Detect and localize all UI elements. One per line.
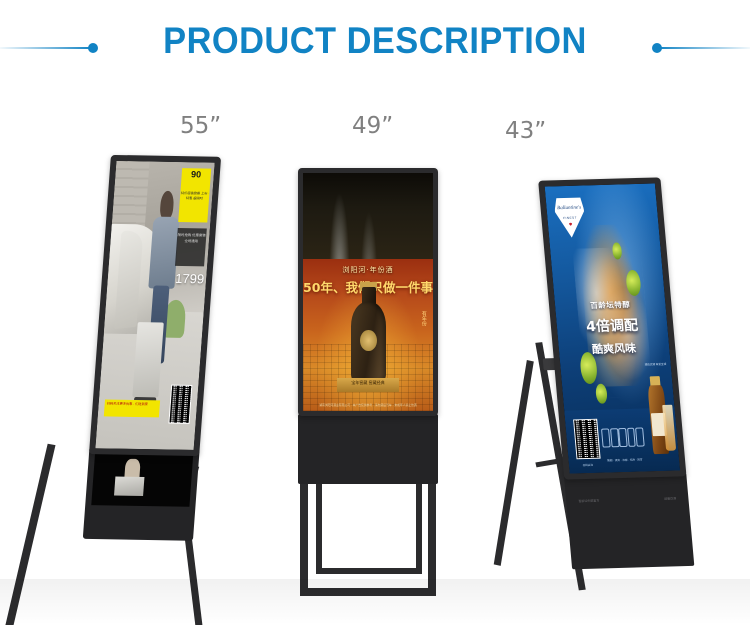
kiosk-49-bezel: 浏阳河·年份酒 50年、我们只做一件事 有年份 宝年窖藏 窖藏经典 湖南浏阳河酒…	[298, 168, 438, 416]
floor-shadow	[0, 579, 750, 625]
ad-qr-code-icon	[573, 419, 600, 459]
qr-pattern	[169, 385, 191, 423]
kiosk-49-left-leg	[300, 468, 308, 596]
kiosk-49-screen[interactable]: 浏阳河·年份酒 50年、我们只做一件事 有年份 宝年窖藏 窖藏经典 湖南浏阳河酒…	[303, 173, 433, 411]
ad-side-text: 有年份	[421, 311, 428, 326]
ad-line-3: 酷爽风味	[558, 338, 670, 357]
ad-fine-print: 湖南浏阳河酒业有限公司 · 本广告仅供参考 · 请勿酒后驾车 · 未成年人禁止饮…	[313, 403, 422, 407]
ad-qr-code-icon	[168, 384, 193, 424]
kiosk-43-bezel: Ballantine's FINEST 百龄坛特醇 4倍调配 酷爽风味 理性饮酒…	[538, 177, 686, 479]
product-kiosk-55: 90 特价超值套餐 上市·特惠 超限时 限时抢购 优惠套装 全场通用 1799 …	[18, 150, 248, 570]
kiosk-55-screen[interactable]: 90 特价超值套餐 上市·特惠 超限时 限时抢购 优惠套装 全场通用 1799 …	[95, 161, 214, 450]
qr-pattern	[574, 420, 599, 458]
kiosk-49-inner-left-rail	[316, 478, 322, 574]
bezel-right-text: 适量饮酒	[664, 497, 676, 501]
kiosk-55-bezel: 90 特价超值套餐 上市·特惠 超限时 限时抢购 优惠套装 全场通用 1799 …	[89, 155, 221, 456]
page-title: PRODUCT DESCRIPTION	[26, 20, 724, 62]
kiosk-49-inner-right-rail	[416, 478, 422, 574]
ad-retail-car: 90 特价超值套餐 上市·特惠 超限时 限时抢购 优惠套装 全场通用 1799 …	[95, 161, 214, 450]
ad-line-2: 4倍调配	[556, 314, 668, 337]
kiosk-55-lower-body	[83, 449, 200, 541]
bezel-left-text: 百龄坛中国官方	[578, 499, 599, 504]
product-kiosk-49: 浏阳河·年份酒 50年、我们只做一件事 有年份 宝年窖藏 窖藏经典 湖南浏阳河酒…	[286, 168, 451, 580]
ad-qr-label: 扫码关注	[577, 463, 599, 468]
logo-wordmark: Ballantine's	[554, 206, 584, 212]
ad-price: 1799	[170, 271, 204, 287]
kiosk-43-bezel-text-row: 百龄坛中国官方 适量饮酒	[578, 497, 676, 504]
size-label-43: 43”	[505, 118, 546, 144]
ad-whisky: Ballantine's FINEST 百龄坛特醇 4倍调配 酷爽风味 理性饮酒…	[545, 183, 680, 473]
lower-scene-cart	[114, 476, 145, 495]
flavour-icon-5	[635, 427, 645, 447]
ad-pedestal-text: 宝年窖藏 窖藏经典	[337, 380, 399, 386]
kiosk-49-right-leg	[428, 468, 436, 596]
logo-diamond-icon	[569, 222, 573, 226]
page-header: PRODUCT DESCRIPTION	[0, 0, 750, 90]
ad-side-text: 理性饮酒 享受生活	[645, 363, 667, 367]
size-label-55: 55”	[180, 113, 221, 139]
ad-pedestal: 宝年窖藏 窖藏经典	[337, 378, 399, 392]
ad-baijiu: 浏阳河·年份酒 50年、我们只做一件事 有年份 宝年窖藏 窖藏经典 湖南浏阳河酒…	[303, 173, 433, 411]
ad-dark-box-text: 限时抢购 优惠套装 全场通用	[176, 233, 206, 244]
ad-badge-number: 90	[181, 170, 211, 179]
ad-promo-badge: 90 特价超值套餐 上市·特惠 超限时	[178, 168, 211, 223]
header-rule-right	[658, 47, 750, 49]
kiosk-49-inner-bottom-rail	[316, 568, 422, 574]
ad-brand-line: 浏阳河·年份酒	[303, 265, 433, 275]
ad-strip-text: 扫码关注更多优惠 · 们送到家	[107, 402, 158, 407]
kiosk-43-lower-body: 百龄坛中国官方 适量饮酒	[564, 472, 694, 569]
size-label-49: 49”	[352, 113, 393, 139]
ad-dark-info-box: 限时抢购 优惠套装 全场通用	[175, 228, 207, 266]
product-kiosk-43: 百龄坛中国官方 适量饮酒 Ballantine's	[520, 160, 735, 580]
product-description-page: PRODUCT DESCRIPTION 55” 49” 43”	[0, 0, 750, 625]
ad-shopping-cart	[133, 322, 164, 397]
kiosk-49-lower-body	[298, 414, 438, 484]
kiosk-43-screen[interactable]: Ballantine's FINEST 百龄坛特醇 4倍调配 酷爽风味 理性饮酒…	[545, 183, 680, 473]
ad-yellow-strip: 扫码关注更多优惠 · 们送到家	[104, 400, 160, 418]
kiosk-55-lower-screen	[91, 449, 193, 507]
kiosk-43-rear-leg	[494, 360, 534, 566]
ad-flavour-icon-row	[601, 423, 645, 453]
ad-badge-text: 特价超值套餐 上市·特惠 超限时	[179, 191, 209, 201]
ad-person-head	[159, 191, 175, 221]
